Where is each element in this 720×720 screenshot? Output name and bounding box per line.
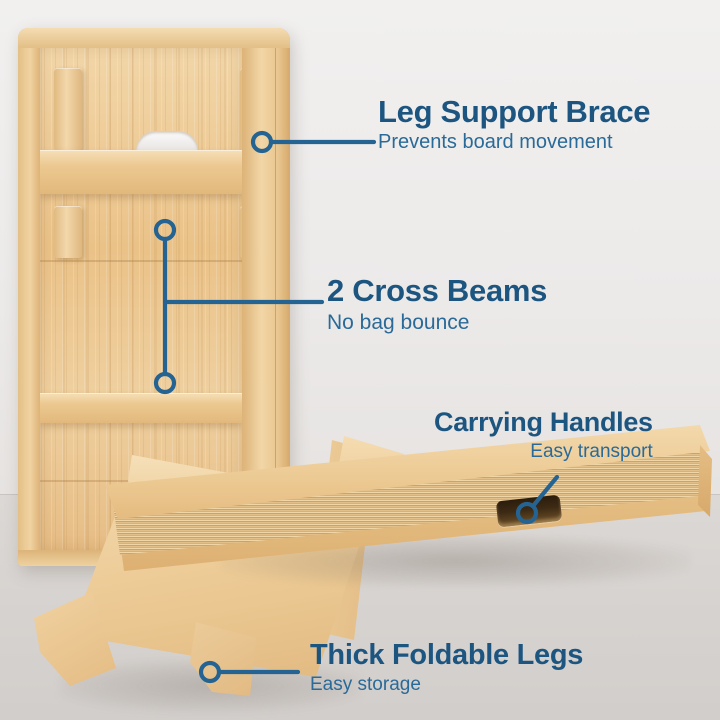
- panel-seam-upper: [40, 260, 242, 262]
- cross-beam-top: [40, 150, 242, 194]
- callout-subtitle: Easy storage: [310, 674, 583, 695]
- callout-carrying-handles: Carrying Handles Easy transport: [434, 409, 653, 462]
- callout-title: 2 Cross Beams: [327, 275, 547, 307]
- product-feature-infographic: Leg Support Brace Prevents board movemen…: [0, 0, 720, 720]
- leg-support-brace-lower-left: [54, 206, 82, 258]
- upright-frame-top: [18, 28, 290, 48]
- callout-cross-beams: 2 Cross Beams No bag bounce: [327, 275, 547, 334]
- upright-handle-cutout: [136, 131, 198, 151]
- callout-title: Carrying Handles: [434, 409, 653, 437]
- callout-subtitle: Easy transport: [434, 441, 653, 462]
- callout-title: Leg Support Brace: [378, 96, 650, 128]
- upright-frame-left: [18, 28, 40, 566]
- callout-thick-foldable-legs: Thick Foldable Legs Easy storage: [310, 641, 583, 695]
- callout-subtitle: Prevents board movement: [378, 131, 650, 153]
- leg-support-brace-left: [54, 68, 82, 152]
- callout-subtitle: No bag bounce: [327, 311, 547, 335]
- callout-title: Thick Foldable Legs: [310, 641, 583, 671]
- callout-leg-support-brace: Leg Support Brace Prevents board movemen…: [378, 96, 650, 153]
